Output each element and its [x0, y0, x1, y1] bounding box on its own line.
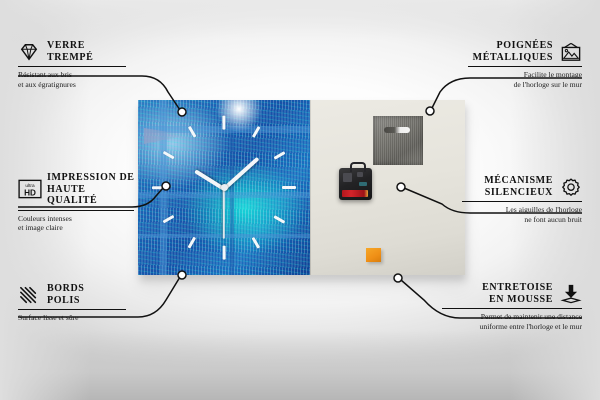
clock-hand-hub	[221, 184, 228, 191]
callout-rule	[18, 210, 134, 211]
callout-description: Couleurs intenses et image claire	[18, 214, 136, 233]
svg-text:HD: HD	[24, 189, 36, 198]
mechanism-hanging-tab	[350, 162, 366, 172]
clock-second-hand	[223, 189, 225, 239]
callout-head: POIGNÉES MÉTALLIQUES	[466, 40, 582, 63]
clock-back-panel	[310, 100, 465, 275]
callout-description: Surface lisse et sûre	[18, 313, 128, 323]
callout-rule	[468, 66, 582, 67]
infographic-stage: VERRE TREMPÉ Résistant aux bris et aux é…	[0, 0, 600, 400]
callout-poignees-metalliques[interactable]: POIGNÉES MÉTALLIQUES Facilite le montage…	[466, 40, 582, 90]
mechanism-detail	[343, 173, 352, 182]
clock-face-front	[138, 100, 310, 275]
foam-spacer-part	[366, 248, 381, 262]
clock-mechanism-part	[339, 168, 372, 200]
diamond-icon	[18, 42, 40, 62]
mechanism-detail	[359, 182, 367, 186]
callout-head: ultra HD IMPRESSION DE HAUTE QUALITÉ	[18, 172, 136, 207]
callout-rule	[18, 309, 126, 310]
gear-icon	[560, 177, 582, 197]
callout-description: Les aiguilles de l'horloge ne font aucun…	[460, 205, 582, 224]
ultra-hd-icon: ultra HD	[18, 179, 40, 199]
callout-mecanisme-silencieux[interactable]: MÉCANISME SILENCIEUX Les aiguilles de l'…	[460, 175, 582, 225]
hour-tick	[152, 186, 166, 189]
callout-description: Permet de maintenir une distance uniform…	[440, 312, 582, 331]
callout-title: POIGNÉES MÉTALLIQUES	[473, 40, 553, 63]
callout-bords-polis[interactable]: BORDS POLIS Surface lisse et sûre	[18, 283, 128, 323]
callout-verre-trempe[interactable]: VERRE TREMPÉ Résistant aux bris et aux é…	[18, 40, 128, 90]
hour-tick	[222, 116, 225, 130]
callout-head: BORDS POLIS	[18, 283, 128, 306]
polished-edges-icon	[18, 285, 40, 305]
callout-rule	[442, 308, 582, 309]
callout-description: Résistant aux bris et aux égratignures	[18, 70, 128, 89]
mechanism-battery	[342, 190, 368, 197]
callout-title: BORDS POLIS	[47, 283, 84, 306]
foam-spacer-icon	[560, 284, 582, 304]
callout-head: MÉCANISME SILENCIEUX	[460, 175, 582, 198]
mechanism-detail	[357, 172, 363, 177]
callout-rule	[18, 66, 126, 67]
callout-title: ENTRETOISE EN MOUSSE	[482, 282, 553, 305]
callout-title: MÉCANISME SILENCIEUX	[484, 175, 553, 198]
callout-title: IMPRESSION DE HAUTE QUALITÉ	[47, 172, 136, 207]
callout-title: VERRE TREMPÉ	[47, 40, 93, 63]
callout-description: Facilite le montage de l'horloge sur le …	[466, 70, 582, 89]
hour-tick	[222, 246, 225, 260]
metal-handle-part	[373, 116, 423, 165]
hour-tick	[282, 186, 296, 189]
picture-hanger-icon	[560, 42, 582, 62]
product-image	[138, 100, 464, 275]
callout-impression-haute-qualite[interactable]: ultra HD IMPRESSION DE HAUTE QUALITÉ Cou…	[18, 172, 136, 233]
callout-entretoise-en-mousse[interactable]: ENTRETOISE EN MOUSSE Permet de maintenir…	[440, 282, 582, 332]
handle-keyhole-slot	[384, 127, 410, 133]
callout-head: VERRE TREMPÉ	[18, 40, 128, 63]
callout-rule	[462, 201, 582, 202]
callout-head: ENTRETOISE EN MOUSSE	[440, 282, 582, 305]
